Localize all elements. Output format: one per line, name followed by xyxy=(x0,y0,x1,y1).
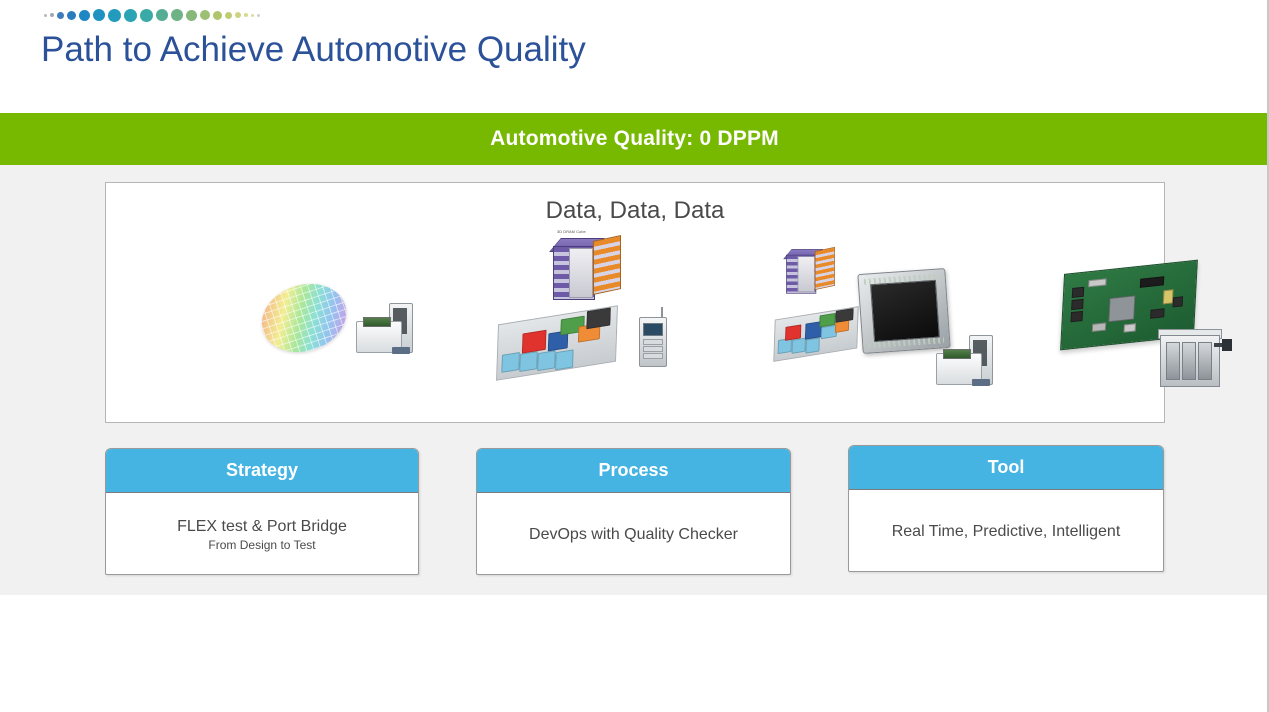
die-top-label: 3D DRAM Cube xyxy=(557,229,586,234)
chip-floorplan-board-icon xyxy=(773,306,858,362)
bga-package-chip-icon xyxy=(857,268,950,354)
pcb-component xyxy=(1072,287,1085,298)
silicon-wafer-icon xyxy=(253,273,355,362)
title-area: Path to Achieve Automotive Quality xyxy=(0,0,1269,113)
decorative-dot xyxy=(200,10,210,20)
decorative-dot xyxy=(186,10,197,21)
floorplan-block xyxy=(519,351,538,372)
card-strategy-header-label: Strategy xyxy=(226,460,298,481)
card-tool-main-text: Real Time, Predictive, Intelligent xyxy=(892,521,1121,542)
card-tool[interactable]: ToolReal Time, Predictive, Intelligent xyxy=(848,445,1164,572)
quality-banner: Automotive Quality: 0 DPPM xyxy=(0,113,1269,165)
card-strategy-main-text: FLEX test & Port Bridge xyxy=(177,516,347,537)
card-process-header-label: Process xyxy=(598,460,668,481)
card-process-main-text: DevOps with Quality Checker xyxy=(529,524,738,545)
decorative-dot xyxy=(235,12,241,18)
floorplan-block xyxy=(785,324,801,341)
decorative-dot xyxy=(79,10,90,21)
decorative-dot xyxy=(225,12,232,19)
floorplan-block xyxy=(537,350,556,371)
card-tool-header: Tool xyxy=(849,446,1163,490)
chip-floorplan-board-icon xyxy=(496,305,618,380)
card-process[interactable]: ProcessDevOps with Quality Checker xyxy=(476,448,791,575)
decorative-dot xyxy=(213,11,222,20)
floorplan-block xyxy=(501,352,520,373)
floorplan-block xyxy=(555,349,574,370)
body-area: Data, Data, Data 3D DRAM Cube xyxy=(0,165,1269,595)
page-title: Path to Achieve Automotive Quality xyxy=(41,30,586,70)
card-strategy-body: FLEX test & Port BridgeFrom Design to Te… xyxy=(106,493,418,575)
decorative-dot xyxy=(251,14,254,17)
pcb-component xyxy=(1092,322,1106,332)
card-strategy-header: Strategy xyxy=(106,449,418,493)
card-strategy-sub-text: From Design to Test xyxy=(208,538,315,552)
pcb-component xyxy=(1150,308,1164,319)
floorplan-block xyxy=(522,330,547,354)
process-illustrations: 3D DRAM Cube xyxy=(106,235,1164,421)
pillar-cards: StrategyFLEX test & Port BridgeFrom Desi… xyxy=(0,448,1269,583)
decorative-dot xyxy=(124,9,137,22)
floorplan-block xyxy=(805,337,819,353)
pcb-component xyxy=(1071,299,1084,310)
footer-logo-bar: PortBridge IG XL Oasis Oasis xyxy=(0,595,1269,712)
decorative-dot xyxy=(93,9,105,21)
data-panel: Data, Data, Data 3D DRAM Cube xyxy=(105,182,1165,423)
decorative-dot xyxy=(156,9,168,21)
pcb-component xyxy=(1124,323,1136,332)
quality-banner-text: Automotive Quality: 0 DPPM xyxy=(490,127,779,151)
decorative-dot xyxy=(57,12,64,19)
decorative-dot xyxy=(257,14,260,17)
card-process-body: DevOps with Quality Checker xyxy=(477,493,790,575)
card-tool-body: Real Time, Predictive, Intelligent xyxy=(849,490,1163,572)
decorative-dot-row xyxy=(44,7,263,23)
slide: Path to Achieve Automotive Quality Autom… xyxy=(0,0,1269,712)
floorplan-block xyxy=(586,307,611,329)
decorative-dot xyxy=(44,14,47,17)
card-tool-header-label: Tool xyxy=(988,457,1025,478)
pcb-component xyxy=(1173,296,1184,307)
card-process-header: Process xyxy=(477,449,790,493)
decorative-dot xyxy=(171,9,183,21)
pcb-component xyxy=(1108,295,1135,322)
floorplan-block xyxy=(835,308,853,323)
floorplan-block xyxy=(791,338,805,354)
pcb-component xyxy=(1088,278,1106,287)
pcb-component xyxy=(1140,276,1164,288)
card-strategy[interactable]: StrategyFLEX test & Port BridgeFrom Desi… xyxy=(105,448,419,575)
decorative-dot xyxy=(140,9,153,22)
data-panel-title: Data, Data, Data xyxy=(106,197,1164,225)
decorative-dot xyxy=(50,13,54,17)
decorative-dot xyxy=(244,13,248,17)
pcb-component xyxy=(1071,311,1084,322)
decorative-dot xyxy=(108,9,121,22)
decorative-dot xyxy=(67,11,76,20)
